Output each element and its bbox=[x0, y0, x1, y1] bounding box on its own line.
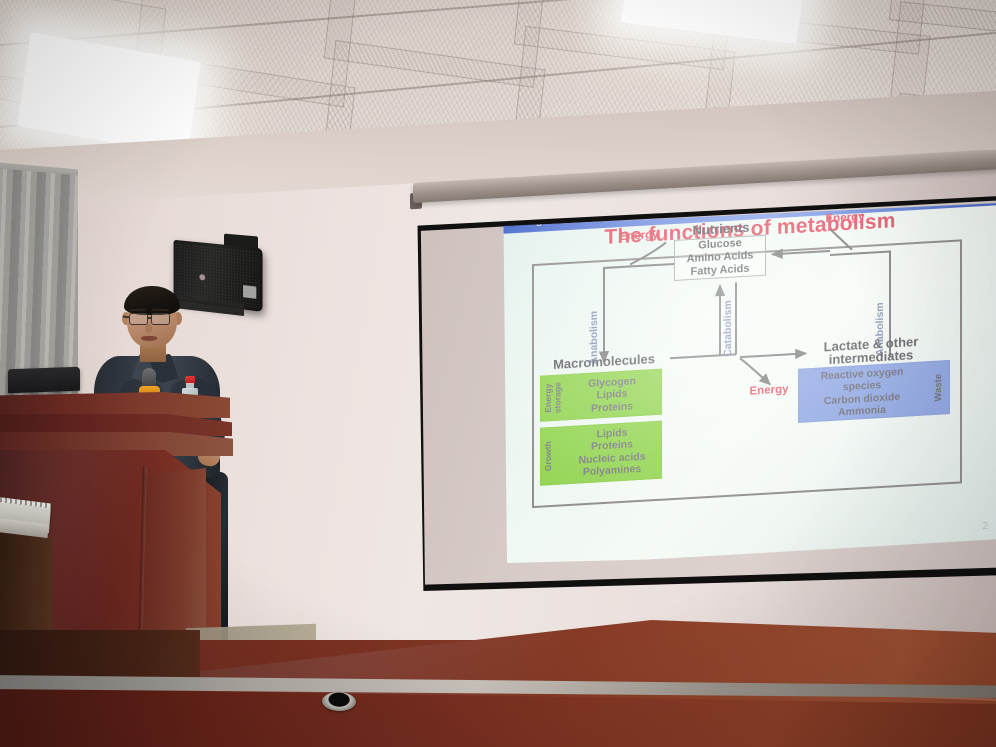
presenter-mouth bbox=[141, 336, 157, 341]
lecture-hall-photo: Background Background The functions of m… bbox=[0, 0, 996, 747]
eyeglasses-lens-right-icon bbox=[151, 313, 170, 325]
diagram-growth-box: Growth Lipids Proteins Nucleic acids Pol… bbox=[540, 421, 662, 486]
projected-slide-area: Background Background The functions of m… bbox=[500, 203, 996, 563]
diagram-nutrients-box: Glucose Amino Acids Fatty Acids bbox=[674, 235, 766, 281]
slide-page-number: 2 bbox=[982, 521, 988, 532]
speaker-label bbox=[243, 285, 256, 299]
diagram-waste-box: Waste Reactive oxygen species Carbon dio… bbox=[798, 360, 950, 423]
projected-slide: Background Background The functions of m… bbox=[500, 203, 996, 563]
diagram-growth-side-label: Growth bbox=[544, 441, 553, 472]
presenter-nose bbox=[145, 324, 152, 333]
eyeglasses-bridge-icon bbox=[148, 317, 152, 319]
eyeglasses-lens-left-icon bbox=[129, 313, 148, 325]
laptop-on-podium[interactable] bbox=[8, 367, 80, 394]
diagram-energy-storage-side-label: Energy storage bbox=[544, 382, 563, 414]
diagram-catabolism-label: Catabolism bbox=[722, 295, 734, 358]
diagram-energy-storage-box: Energy storage Glycogen Lipids Proteins bbox=[540, 369, 662, 422]
diagram-waste-side-label: Waste bbox=[933, 374, 944, 402]
speaker-logo-icon bbox=[199, 274, 205, 281]
